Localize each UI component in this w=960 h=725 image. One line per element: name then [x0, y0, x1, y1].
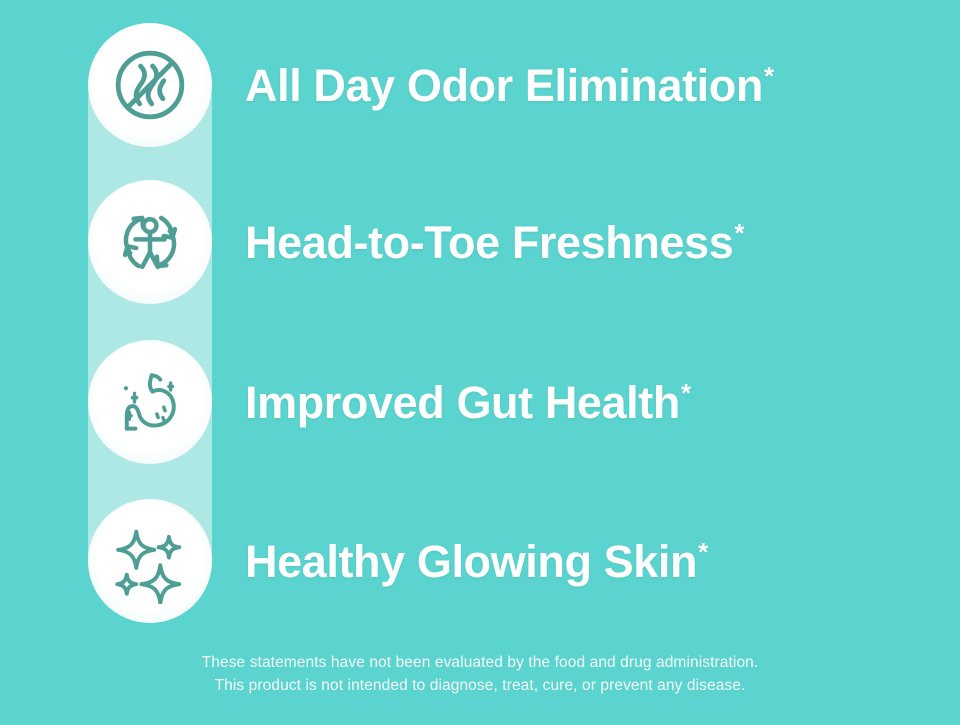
stomach-sparkle-icon [88, 340, 212, 464]
benefit-label-asterisk: * [698, 537, 708, 567]
benefit-item-gut-health: Improved Gut Health* [88, 340, 918, 464]
benefit-label-text: Improved Gut Health [245, 377, 680, 428]
benefit-label-text: Healthy Glowing Skin [245, 536, 697, 587]
disclaimer-line-2: This product is not intended to diagnose… [0, 675, 960, 698]
disclaimer-line-1: These statements have not been evaluated… [0, 652, 960, 675]
body-refresh-icon [88, 180, 212, 304]
benefits-panel: All Day Odor Elimination* [0, 0, 960, 725]
benefit-label-text: All Day Odor Elimination [245, 60, 763, 111]
benefit-label-text: Head-to-Toe Freshness [245, 217, 733, 268]
benefit-label: Head-to-Toe Freshness* [245, 220, 918, 265]
sparkles-icon [88, 499, 212, 623]
benefit-item-head-to-toe-freshness: Head-to-Toe Freshness* [88, 180, 918, 304]
benefit-label: All Day Odor Elimination* [245, 63, 918, 108]
benefit-label: Improved Gut Health* [245, 380, 918, 425]
no-odor-icon [88, 23, 212, 147]
benefit-label-asterisk: * [681, 378, 691, 408]
benefit-item-odor-elimination: All Day Odor Elimination* [88, 23, 918, 147]
benefit-label-asterisk: * [764, 61, 774, 91]
benefit-label-asterisk: * [734, 218, 744, 248]
disclaimer: These statements have not been evaluated… [0, 652, 960, 698]
benefit-item-glowing-skin: Healthy Glowing Skin* [88, 499, 918, 623]
benefit-label: Healthy Glowing Skin* [245, 539, 918, 584]
